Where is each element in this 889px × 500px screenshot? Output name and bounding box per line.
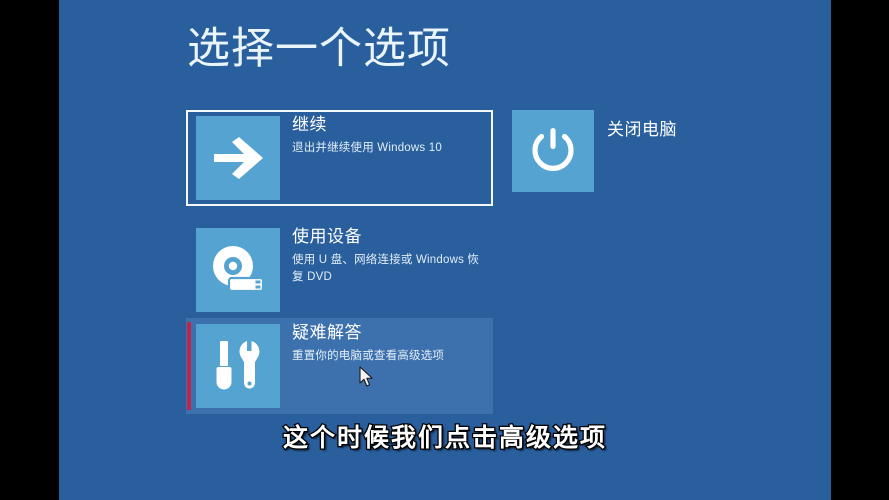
page-title: 选择一个选项	[187, 24, 451, 76]
troubleshoot-description: 重置你的电脑或查看高级选项	[292, 348, 488, 365]
video-caption: 这个时候我们点击高级选项	[59, 418, 831, 454]
screenshot-root: 选择一个选项 继续 退出并继续使用 Windows 10	[0, 0, 889, 500]
continue-description: 退出并继续使用 Windows 10	[292, 140, 488, 157]
troubleshoot-title: 疑难解答	[292, 322, 488, 345]
continue-title: 继续	[292, 114, 488, 137]
power-icon	[529, 127, 577, 175]
use-device-title: 使用设备	[292, 226, 488, 249]
troubleshoot-text-block: 疑难解答 重置你的电脑或查看高级选项	[292, 322, 488, 365]
option-troubleshoot[interactable]: 疑难解答 重置你的电脑或查看高级选项	[186, 318, 493, 414]
continue-text-block: 继续 退出并继续使用 Windows 10	[292, 114, 488, 157]
turn-off-pc-title: 关闭电脑	[607, 115, 677, 140]
arrow-right-icon	[210, 137, 266, 179]
turn-off-pc-icon-tile	[512, 110, 594, 192]
mouse-cursor	[359, 366, 375, 388]
option-use-device[interactable]: 使用设备 使用 U 盘、网络连接或 Windows 恢复 DVD	[186, 222, 493, 318]
use-device-description: 使用 U 盘、网络连接或 Windows 恢复 DVD	[292, 252, 488, 285]
use-device-text-block: 使用设备 使用 U 盘、网络连接或 Windows 恢复 DVD	[292, 226, 488, 285]
continue-icon-tile	[196, 116, 280, 200]
windows-recovery-screen: 选择一个选项 继续 退出并继续使用 Windows 10	[59, 0, 831, 500]
disc-usb-device-icon	[209, 244, 267, 296]
selection-accent-bar	[187, 322, 191, 410]
option-turn-off-pc[interactable]: 关闭电脑	[512, 110, 802, 198]
option-continue[interactable]: 继续 退出并继续使用 Windows 10	[186, 110, 493, 206]
troubleshoot-icon-tile	[196, 324, 280, 408]
screwdriver-wrench-icon	[214, 340, 262, 392]
use-device-icon-tile	[196, 228, 280, 312]
